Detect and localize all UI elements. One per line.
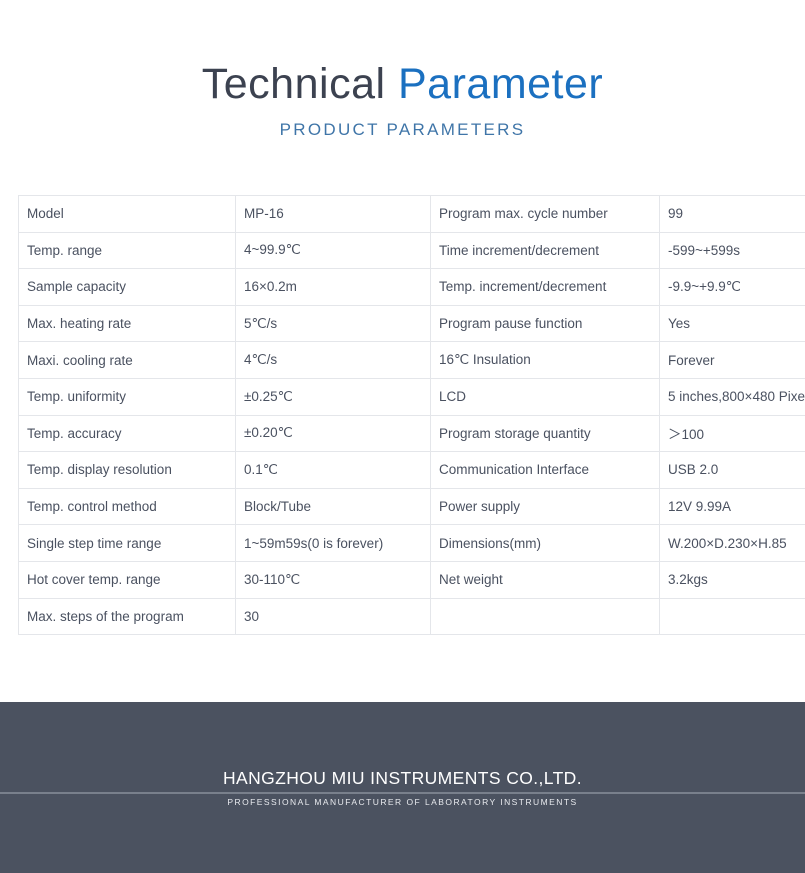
spec-label-right: Program storage quantity [431, 415, 660, 452]
spec-label-right: 16℃ Insulation [431, 342, 660, 379]
spec-label-right: Power supply [431, 488, 660, 525]
spec-label-left: Hot cover temp. range [19, 561, 236, 598]
spec-label-right: Temp. increment/decrement [431, 269, 660, 306]
spec-label-right: Time increment/decrement [431, 232, 660, 269]
spec-value-left: 4~99.9℃ [236, 232, 431, 269]
spec-value-left: MP-16 [236, 196, 431, 233]
spec-value-left: 30 [236, 598, 431, 635]
spec-label-right: Program max. cycle number [431, 196, 660, 233]
spec-value-right: W.200×D.230×H.85 [660, 525, 805, 562]
spec-value-right: -599~+599s [660, 232, 805, 269]
spec-value-right: 3.2kgs [660, 561, 805, 598]
spec-label-right: LCD [431, 378, 660, 415]
table-row: Temp. range4~99.9℃Time increment/decreme… [19, 232, 805, 269]
footer-band: HANGZHOU MIU INSTRUMENTS CO.,LTD. PROFES… [0, 702, 805, 873]
spec-label-right: Program pause function [431, 305, 660, 342]
spec-value-left: ±0.25℃ [236, 378, 431, 415]
footer-tagline: PROFESSIONAL MANUFACTURER OF LABORATORY … [0, 797, 805, 807]
page-title: Technical Parameter [0, 58, 805, 110]
table-row: Single step time range1~59m59s(0 is fore… [19, 525, 805, 562]
page-subtitle: PRODUCT PARAMETERS [0, 119, 805, 141]
table-row: Temp. display resolution0.1℃Communicatio… [19, 452, 805, 489]
page-title-primary: Technical [202, 60, 398, 108]
spec-value-right: 5 inches,800×480 Pixel [660, 378, 805, 415]
table-row: ModelMP-16Program max. cycle number99 [19, 196, 805, 233]
spec-label-left: Temp. accuracy [19, 415, 236, 452]
spec-value-right: -9.9~+9.9℃ [660, 269, 805, 306]
spec-value-right: 99 [660, 196, 805, 233]
spec-label-left: Max. heating rate [19, 305, 236, 342]
spec-label-right: Communication Interface [431, 452, 660, 489]
spec-table-body: ModelMP-16Program max. cycle number99Tem… [19, 196, 805, 635]
spec-table-container: ModelMP-16Program max. cycle number99Tem… [18, 195, 787, 635]
specification-table: ModelMP-16Program max. cycle number99Tem… [18, 195, 805, 635]
table-row: Temp. uniformity±0.25℃LCD5 inches,800×48… [19, 378, 805, 415]
spec-value-left: ±0.20℃ [236, 415, 431, 452]
spec-label-left: Temp. range [19, 232, 236, 269]
spec-value-right: ＞100 [660, 415, 805, 452]
spec-value-right: 12V 9.99A [660, 488, 805, 525]
spec-label-left: Temp. uniformity [19, 378, 236, 415]
table-row: Maxi. cooling rate4℃/s16℃ InsulationFore… [19, 342, 805, 379]
spec-label-left: Model [19, 196, 236, 233]
footer-divider [0, 792, 805, 794]
page-header: Technical Parameter PRODUCT PARAMETERS [0, 0, 805, 141]
spec-value-left: 16×0.2m [236, 269, 431, 306]
spec-value-left: 0.1℃ [236, 452, 431, 489]
spec-label-right [431, 598, 660, 635]
spec-label-right: Net weight [431, 561, 660, 598]
spec-value-right [660, 598, 805, 635]
table-row: Sample capacity16×0.2mTemp. increment/de… [19, 269, 805, 306]
spec-label-left: Maxi. cooling rate [19, 342, 236, 379]
spec-value-right: Forever [660, 342, 805, 379]
spec-value-left: 4℃/s [236, 342, 431, 379]
spec-value-right: USB 2.0 [660, 452, 805, 489]
spec-label-left: Single step time range [19, 525, 236, 562]
table-row: Temp. control methodBlock/TubePower supp… [19, 488, 805, 525]
table-row: Hot cover temp. range30-110℃Net weight3.… [19, 561, 805, 598]
table-row: Max. steps of the program30 [19, 598, 805, 635]
spec-value-left: Block/Tube [236, 488, 431, 525]
spec-value-left: 5℃/s [236, 305, 431, 342]
spec-label-left: Max. steps of the program [19, 598, 236, 635]
spec-value-left: 1~59m59s(0 is forever) [236, 525, 431, 562]
spec-label-left: Temp. control method [19, 488, 236, 525]
table-row: Max. heating rate5℃/sProgram pause funct… [19, 305, 805, 342]
spec-value-right: Yes [660, 305, 805, 342]
page-title-accent: Parameter [398, 60, 603, 108]
spec-label-left: Temp. display resolution [19, 452, 236, 489]
spec-label-left: Sample capacity [19, 269, 236, 306]
footer-company-name: HANGZHOU MIU INSTRUMENTS CO.,LTD. [0, 768, 805, 789]
spec-label-right: Dimensions(mm) [431, 525, 660, 562]
spec-value-left: 30-110℃ [236, 561, 431, 598]
table-row: Temp. accuracy±0.20℃Program storage quan… [19, 415, 805, 452]
